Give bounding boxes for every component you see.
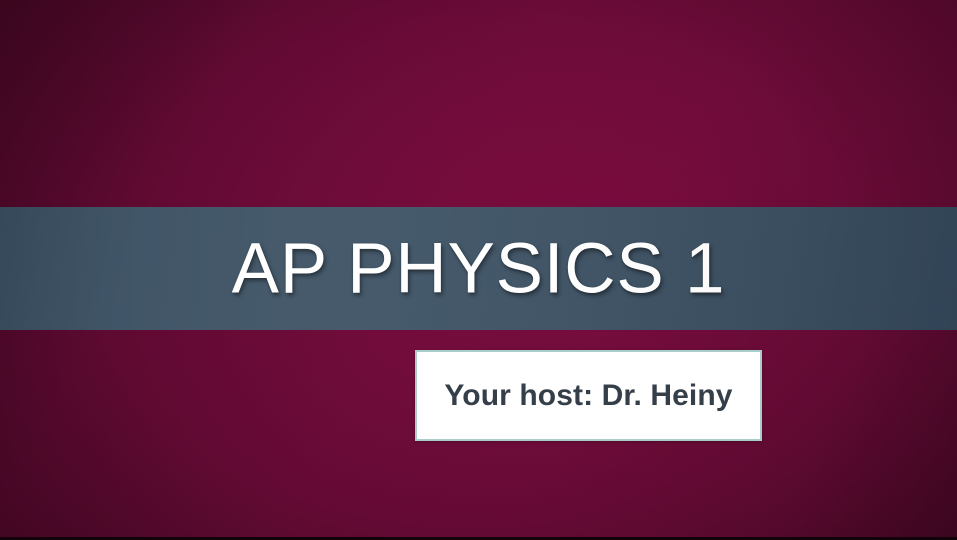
presentation-slide: AP PHYSICS 1 Your host: Dr. Heiny: [0, 0, 957, 540]
subtitle-text: Your host: Dr. Heiny: [444, 381, 732, 411]
title-banner: AP PHYSICS 1: [0, 207, 957, 330]
subtitle-card: Your host: Dr. Heiny: [415, 350, 762, 441]
slide-title: AP PHYSICS 1: [0, 233, 957, 304]
